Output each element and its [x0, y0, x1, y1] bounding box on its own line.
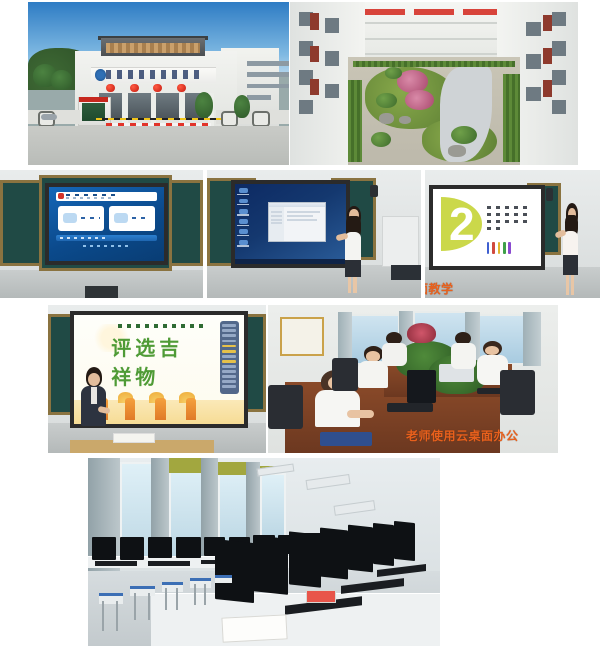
monitor: [391, 265, 421, 280]
monitor: [289, 532, 321, 588]
slide-line-3: [487, 220, 528, 223]
monitor: [373, 523, 394, 567]
keyboard: [387, 403, 433, 412]
speaker-icon: [546, 188, 553, 201]
windows-cloud-desktop-screen: [231, 180, 350, 267]
monitor: [253, 535, 288, 595]
monitor: [394, 521, 415, 561]
slide-line-2: [487, 213, 533, 216]
photo-teacher-whiteboard-desktop: [207, 170, 421, 298]
monitor: [320, 528, 348, 580]
mouse-pad: [320, 432, 372, 445]
photo-collage: 多媒体教室一体机部署云桌面: [0, 0, 600, 648]
monitor: [215, 539, 254, 603]
red-folder: [306, 590, 336, 603]
screen-bar-label: [60, 237, 106, 239]
personal-desktop-icon: [114, 213, 128, 223]
photo-teacher-lesson-slide: 2 老师使用云桌面教: [425, 170, 600, 298]
screen-header-subtitle: [66, 197, 112, 198]
photo-computer-lab: 计算机云教室部署中: [88, 458, 440, 646]
chair: [268, 385, 303, 429]
platform-logo-icon: [58, 193, 64, 199]
slide-title: 评选吉祥物: [111, 350, 193, 372]
cloud-desktop-login-screen: [45, 183, 169, 265]
monitor: [407, 370, 436, 403]
teaching-desktop-icon: [63, 213, 77, 223]
card-personal-label: [132, 217, 151, 219]
caption-office: 老师使用云桌面办公: [406, 427, 519, 444]
monitor: [348, 524, 373, 572]
card-teaching-label: [81, 217, 100, 219]
slide-line-1: [487, 206, 530, 209]
caption-teaching: 老师使用云桌面教学: [425, 280, 454, 297]
photo-teachers-office: 老师使用云桌面办公: [268, 305, 558, 453]
screen-footer-label: [83, 245, 129, 247]
air-conditioner: [382, 216, 418, 267]
screen-header-title: [66, 194, 119, 196]
photo-school-gate: [28, 2, 289, 165]
photo-multimedia-classroom: 多媒体教室一体机部署云桌面: [0, 170, 203, 298]
slide-line-4: [487, 227, 504, 230]
wall-frame: [280, 317, 325, 357]
school-name-sign: [106, 70, 205, 80]
chair: [332, 358, 358, 391]
paper: [221, 614, 288, 642]
guard-house-sign: [79, 97, 108, 102]
whiteboard-toolbar[interactable]: [220, 321, 239, 393]
paper-stack: [113, 433, 154, 442]
chair: [500, 370, 535, 414]
photo-courtyard: [290, 2, 578, 165]
slide-big-number: 2: [450, 206, 474, 241]
lesson-slide-screen: 2: [429, 185, 546, 270]
slide-header: [118, 324, 206, 328]
speaker-icon: [370, 185, 379, 197]
photo-teacher-mascot-lesson: 评选吉祥物: [48, 305, 266, 453]
